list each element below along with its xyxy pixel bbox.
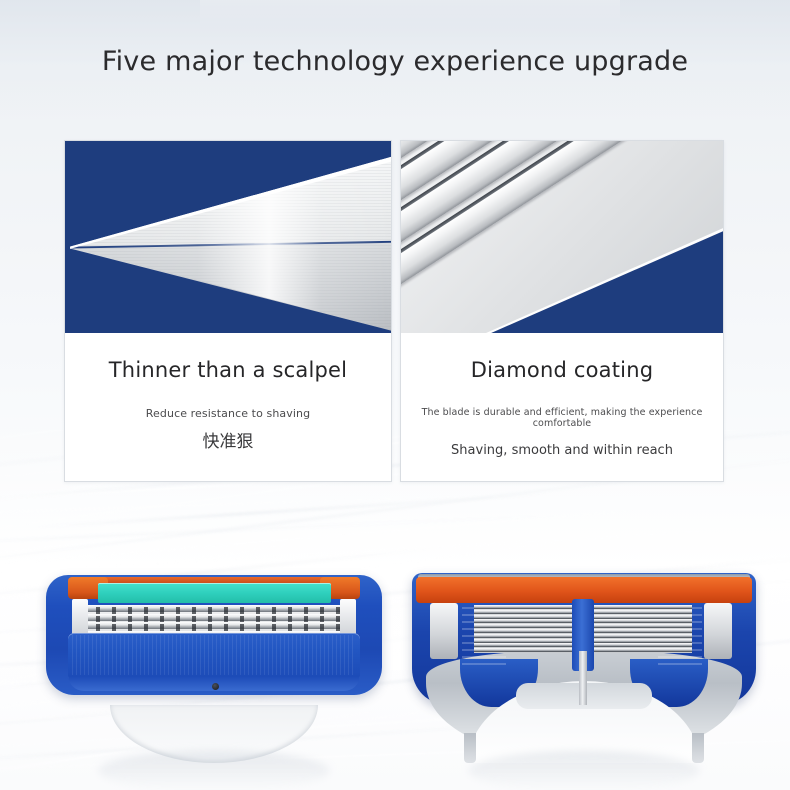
product-photos bbox=[0, 500, 790, 790]
feature-card-body: Thinner than a scalpel Reduce resistance… bbox=[65, 333, 391, 481]
feature-card-subtitle: Reduce resistance to shaving bbox=[146, 407, 310, 420]
feature-card-heading: Diamond coating bbox=[471, 359, 653, 382]
background-top-highlight bbox=[200, 0, 620, 30]
blade-stripes-illustration bbox=[401, 141, 723, 333]
feature-cards: Thinner than a scalpel Reduce resistance… bbox=[0, 140, 790, 485]
feature-card-body: Diamond coating The blade is durable and… bbox=[401, 333, 723, 481]
feature-card-tagline: 快准狠 bbox=[203, 427, 254, 452]
product-image-cartridge-rear bbox=[408, 555, 760, 755]
feature-card-heading: Thinner than a scalpel bbox=[109, 359, 347, 382]
product-image-cartridge-front bbox=[38, 555, 390, 755]
feature-card-thinner-than-a-scalpel[interactable]: Thinner than a scalpel Reduce resistance… bbox=[64, 140, 392, 482]
lubrication-strip bbox=[98, 583, 331, 603]
feature-card-tagline: Shaving, smooth and within reach bbox=[451, 443, 673, 458]
page-title: Five major technology experience upgrade bbox=[0, 46, 790, 77]
feature-card-subtitle: The blade is durable and efficient, maki… bbox=[401, 407, 723, 429]
blade-taper-illustration bbox=[65, 141, 391, 333]
feature-card-diamond-coating[interactable]: Diamond coating The blade is durable and… bbox=[400, 140, 724, 482]
